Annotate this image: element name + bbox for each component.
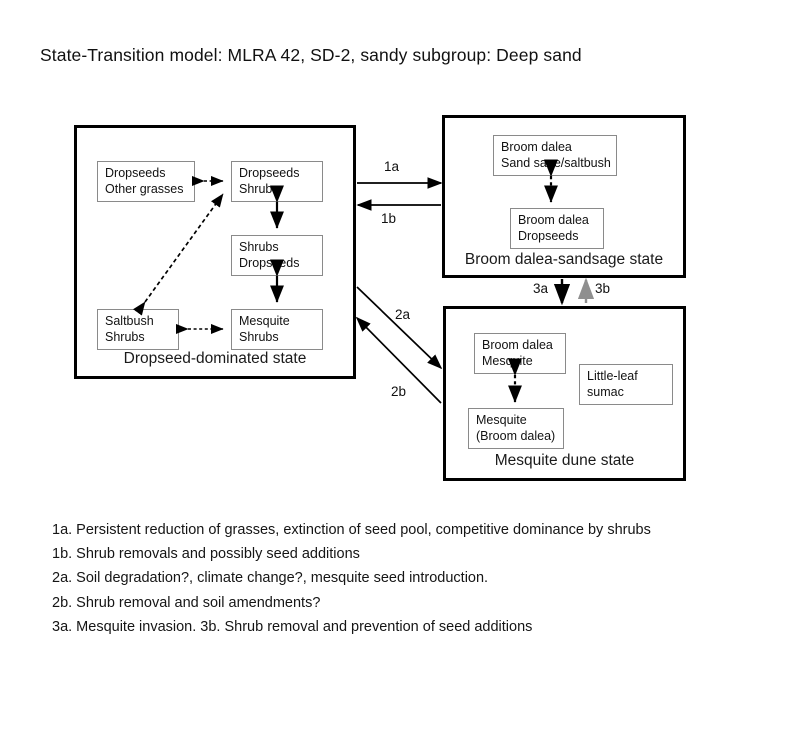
legend-line-2a: 2a. Soil degradation?, climate change?, … [52, 566, 782, 590]
phase-line-1: Saltbush [105, 313, 171, 329]
legend-line-1a: 1a. Persistent reduction of grasses, ext… [52, 518, 782, 542]
phase-box-mesquite-broom-dalea: Mesquite (Broom dalea) [468, 408, 564, 449]
phase-line-1: Broom dalea [482, 337, 558, 353]
page-title: State-Transition model: MLRA 42, SD-2, s… [40, 45, 582, 66]
phase-box-broom-dalea-sand-sage-saltbush: Broom dalea Sand sage/saltbush [493, 135, 617, 176]
transition-label-2b: 2b [391, 384, 406, 399]
phase-line-1: Broom dalea [501, 139, 609, 155]
legend: 1a. Persistent reduction of grasses, ext… [52, 518, 782, 639]
phase-line-2: Dropseeds [239, 255, 315, 271]
phase-box-dropseeds-other-grasses: Dropseeds Other grasses [97, 161, 195, 202]
phase-line-2: Sand sage/saltbush [501, 155, 609, 171]
phase-box-broom-dalea-mesquite: Broom dalea Mesquite [474, 333, 566, 374]
state-box-broom-dalea-sandsage: Broom dalea Sand sage/saltbush Broom dal… [442, 115, 686, 278]
phase-line-2: Other grasses [105, 181, 187, 197]
phase-line-2: (Broom dalea) [476, 428, 556, 444]
transition-label-1b: 1b [381, 211, 396, 226]
legend-line-1b: 1b. Shrub removals and possibly seed add… [52, 542, 782, 566]
legend-line-3a-3b: 3a. Mesquite invasion. 3b. Shrub removal… [52, 615, 782, 639]
phase-box-broom-dalea-dropseeds: Broom dalea Dropseeds [510, 208, 604, 249]
phase-line-1: Little-leaf [587, 368, 665, 384]
transition-label-2a: 2a [395, 307, 410, 322]
phase-line-1: Mesquite [476, 412, 556, 428]
phase-line-2: Shrubs [105, 329, 171, 345]
phase-box-mesquite-shrubs: Mesquite Shrubs [231, 309, 323, 350]
transition-label-3b: 3b [595, 281, 610, 296]
state-label-mesquite-dune: Mesquite dune state [446, 452, 683, 470]
arrow-saltbush-to-dropseeds-shrubs-diagonal [145, 194, 223, 302]
phase-box-saltbush-shrubs: Saltbush Shrubs [97, 309, 179, 350]
phase-line-2: Shrubs [239, 181, 315, 197]
phase-box-dropseeds-shrubs: Dropseeds Shrubs [231, 161, 323, 202]
diagram-canvas: State-Transition model: MLRA 42, SD-2, s… [0, 0, 800, 749]
phase-line-2: Dropseeds [518, 228, 596, 244]
phase-line-2: Mesquite [482, 353, 558, 369]
state-label-dropseed-dominated: Dropseed-dominated state [77, 350, 353, 368]
phase-line-1: Mesquite [239, 313, 315, 329]
phase-line-1: Shrubs [239, 239, 315, 255]
transition-label-1a: 1a [384, 159, 399, 174]
phase-line-1: Broom dalea [518, 212, 596, 228]
phase-box-shrubs-dropseeds: Shrubs Dropseeds [231, 235, 323, 276]
state-label-broom-dalea-sandsage: Broom dalea-sandsage state [445, 251, 683, 269]
state-box-dropseed-dominated: Dropseeds Other grasses Dropseeds Shrubs… [74, 125, 356, 379]
arrow-transition-2a [357, 287, 441, 368]
state-box-mesquite-dune: Broom dalea Mesquite Little-leaf sumac M… [443, 306, 686, 481]
phase-line-1: Dropseeds [105, 165, 187, 181]
transition-label-3a: 3a [533, 281, 548, 296]
legend-line-2b: 2b. Shrub removal and soil amendments? [52, 591, 782, 615]
phase-line-2: sumac [587, 384, 665, 400]
phase-line-1: Dropseeds [239, 165, 315, 181]
phase-box-little-leaf-sumac: Little-leaf sumac [579, 364, 673, 405]
phase-line-2: Shrubs [239, 329, 315, 345]
